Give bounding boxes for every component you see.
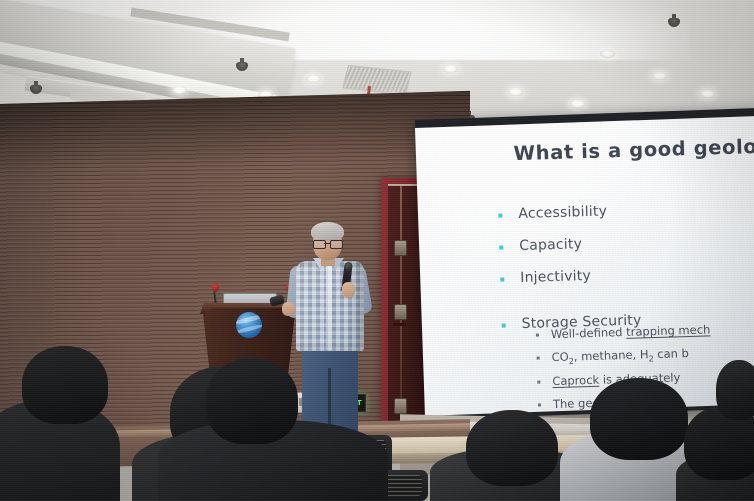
attendee-head [22,346,108,424]
slide-bullet-capacity: Capacity [497,230,754,255]
downlight-icon [172,86,187,94]
downlight-icon [508,88,523,96]
glasses-lens-left [313,240,326,249]
downlight-icon [570,100,585,108]
downlight-icon [600,50,615,58]
slide-bullet-injectivity: Injectivity [498,262,754,287]
door-handle-icon[interactable] [394,398,407,414]
eyeglasses-icon [313,240,341,247]
downlight-icon [700,90,715,98]
glasses-bridge [324,243,330,244]
attendee-head [466,410,558,486]
downlight-icon [306,75,321,83]
sub-text-prefix: CO [551,349,569,364]
presenter-shirt-placket [326,262,332,350]
wall-top-shadow [0,91,470,174]
sub-text-underlined: Caprock [552,373,599,388]
presenter-right-hand [342,282,355,298]
ceiling-diffuser-icon [342,65,412,95]
attendee-head [590,378,688,460]
slide-content: What is a good geologica Accessibility C… [416,117,754,415]
attendee-head [716,360,754,420]
microphone-windscreen-icon [212,283,219,292]
sub-text-suffix: can b [653,346,689,361]
slide-title: What is a good geologica [513,134,754,166]
door-handle-icon[interactable] [394,304,407,320]
sub-text-underlined: trapping mech [626,322,711,338]
door-handle-icon[interactable] [394,240,407,256]
slide-bullet-accessibility: Accessibility [496,198,754,223]
glasses-lens-right [330,240,343,249]
blue-globe-swirl-logo [236,312,262,338]
door-plate [393,323,406,326]
attendee-head [206,358,298,444]
sub-text-prefix: Well-defined [551,325,627,341]
presentation-photo-scene: What is a good geologica Accessibility C… [0,0,754,501]
sub-text-mid: , methane, H [574,347,649,363]
presenter-left-hand [282,302,295,316]
downlight-icon [652,72,667,80]
downlight-icon [443,65,458,73]
projection-screen: What is a good geologica Accessibility C… [415,116,754,416]
presenter-hair [311,222,344,241]
slide-sub-bullet-co2: CO2, methane, H2 can b [534,342,754,367]
